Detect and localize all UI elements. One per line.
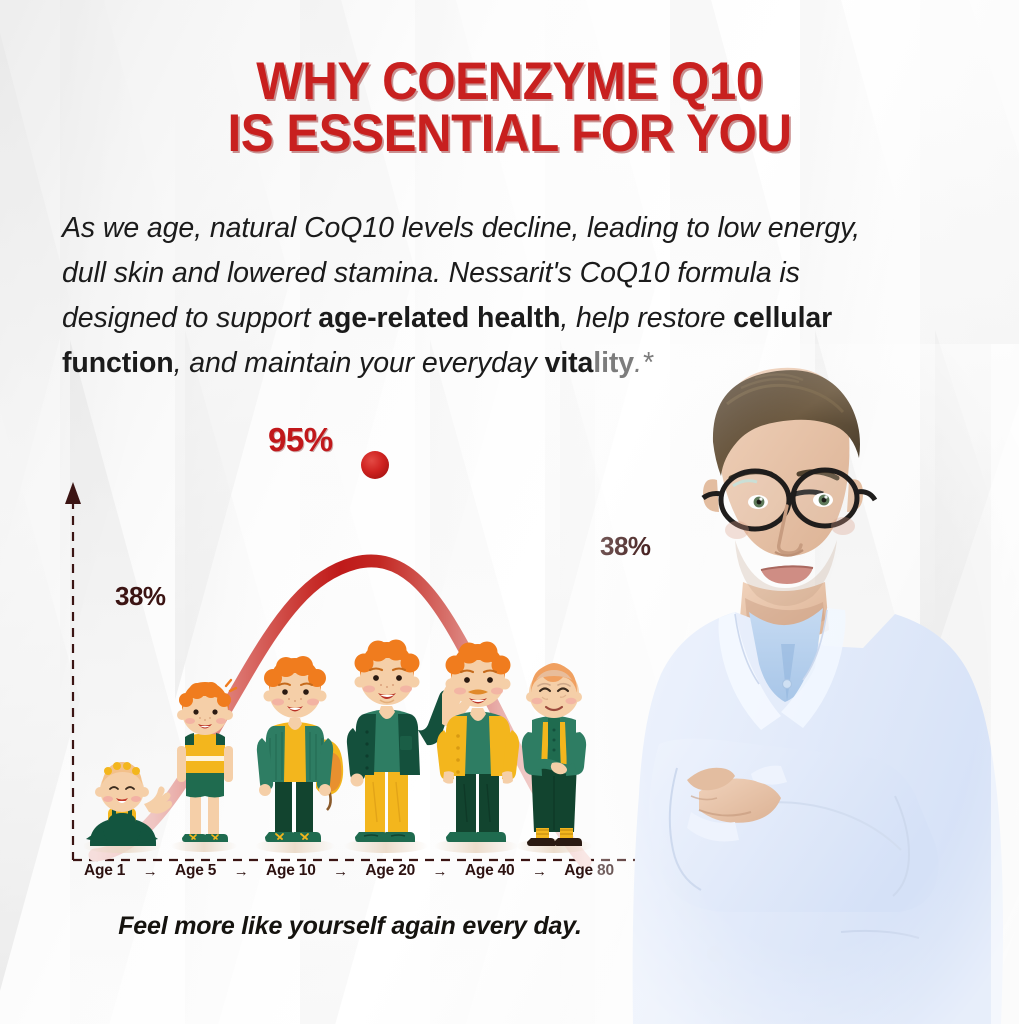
figure-elderly-man [522,663,586,846]
arrow-icon-2: → [234,864,249,879]
title-line-2: IS ESSENTIAL FOR YOU [36,108,984,160]
age-label-3: Age 10 [266,862,316,880]
paragraph-line-3: designed to support age-related health, … [62,296,1007,341]
age-label-5: Age 40 [465,862,515,880]
page-title: WHY COENZYME Q10 IS ESSENTIAL FOR YOU [36,56,984,161]
age-label-2: Age 5 [175,862,216,880]
paragraph-line-2: dull skin and lowered stamina. Nessarit'… [62,251,1007,296]
emphasis-age-related-health: age-related health [318,302,560,334]
age-axis-labels: Age 1 → Age 5 → Age 10 → Age 20 → Age 40… [84,862,614,880]
title-line-1: WHY COENZYME Q10 [256,52,763,111]
paragraph-line-1: As we age, natural CoQ10 levels decline,… [62,206,1007,251]
arrow-icon-3: → [333,864,348,879]
doctor-illustration [595,344,1019,1024]
peak-marker-dot [345,435,405,495]
age-label-1: Age 1 [84,862,125,880]
emphasis-function: function [62,347,174,379]
figure-child [177,680,236,842]
age-label-4: Age 20 [365,862,415,880]
emphasis-cellular: cellular [733,302,832,334]
arrow-icon-5: → [532,864,547,879]
figure-adult-man [437,642,519,843]
left-percentage-label: 38% [115,581,166,612]
doctor-photo [595,344,1019,1024]
paragraph-line-3-a: designed to support [62,302,318,334]
infographic-canvas: WHY COENZYME Q10 IS ESSENTIAL FOR YOU As… [0,0,1019,1024]
peak-percentage-label: 95% [268,421,333,459]
arrow-icon-4: → [433,864,448,879]
paragraph-line-3-c: , help restore [560,302,733,334]
figure-schoolboy [257,656,343,842]
figure-shadows [84,839,592,853]
figure-baby [86,762,172,846]
arrow-icon-1: → [143,864,158,879]
paragraph-line-4-b: , and maintain your everyday [174,347,545,379]
